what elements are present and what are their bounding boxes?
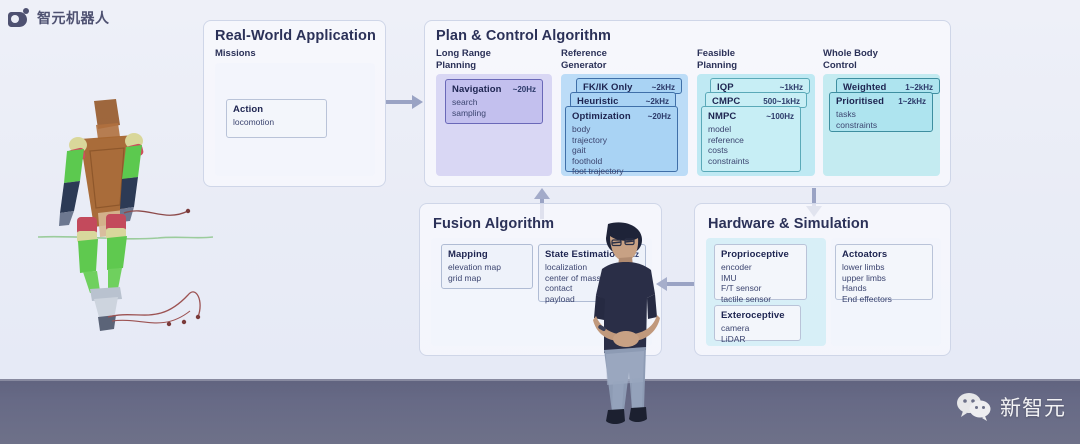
card-iqp-hz: ~1kHz (780, 83, 803, 92)
card-action[interactable]: Action locomotion (226, 99, 327, 138)
panel-hardware-simulation: Hardware & Simulation Proprioceptive enc… (694, 203, 951, 356)
card-action-body: locomotion (233, 117, 320, 128)
card-exteroceptive[interactable]: Exteroceptive camera LiDAR (714, 305, 801, 341)
card-actoators[interactable]: Actoators lower limbs upper limbs Hands … (835, 244, 933, 300)
watermark-text: 新智元 (1000, 392, 1066, 422)
card-proprioceptive-name: Proprioceptive (721, 249, 789, 260)
card-exteroceptive-name: Exteroceptive (721, 310, 785, 321)
subtitle-whole-body-control: Whole Body Control (823, 48, 878, 71)
presentation-stage-screenshot: 智元机器人 (0, 0, 1080, 444)
card-optimization-hz: ~20Hz (648, 112, 671, 121)
card-nmpc-name: NMPC (708, 111, 736, 122)
architecture-diagram: Real-World Application Missions Action l… (0, 0, 1080, 379)
card-actoators-body: lower limbs upper limbs Hands End effect… (842, 262, 926, 304)
panel-title-fusion: Fusion Algorithm (433, 216, 554, 232)
speaker-person (572, 222, 680, 444)
watermark: 新智元 (956, 392, 1066, 422)
subtitle-long-range-planning: Long Range Planning (436, 48, 491, 71)
card-navigation-hz: ~20Hz (513, 85, 536, 94)
subtitle-feasible-planning: Feasible Planning (697, 48, 737, 71)
card-prioritised-hz: 1~2kHz (898, 97, 926, 106)
panel-title-real-world: Real-World Application (215, 28, 376, 44)
arrow-right-icon (386, 94, 426, 110)
subtitle-missions: Missions (215, 48, 256, 60)
wechat-icon (956, 392, 992, 422)
card-nmpc[interactable]: NMPC ~100Hz model reference costs constr… (701, 106, 801, 172)
subtitle-reference-generator: Reference Generator (561, 48, 607, 71)
card-prioritised-body: tasks constraints (836, 109, 926, 130)
card-proprioceptive[interactable]: Proprioceptive encoder IMU F/T sensor ta… (714, 244, 807, 300)
panel-title-plan-control: Plan & Control Algorithm (436, 28, 611, 44)
card-cmpc-hz: 500~1kHz (763, 97, 800, 106)
panel-title-hardware: Hardware & Simulation (708, 216, 869, 232)
card-mapping-name: Mapping (448, 249, 488, 260)
card-actoators-name: Actoators (842, 249, 887, 260)
card-proprioceptive-body: encoder IMU F/T sensor tactile sensor (721, 262, 800, 304)
panel-plan-control-algorithm: Plan & Control Algorithm Long Range Plan… (424, 20, 951, 187)
card-navigation-body: search sampling (452, 97, 536, 118)
card-mapping-body: elevation map grid map (448, 262, 526, 283)
card-prioritised[interactable]: Prioritised 1~2kHz tasks constraints (829, 92, 933, 132)
card-mapping[interactable]: Mapping elevation map grid map (441, 244, 533, 289)
card-heuristic-hz: ~2kHz (646, 97, 669, 106)
card-exteroceptive-body: camera LiDAR (721, 323, 794, 344)
card-optimization[interactable]: Optimization ~20Hz body trajectory gait … (565, 106, 678, 172)
card-navigation-name: Navigation (452, 84, 502, 95)
card-navigation[interactable]: Navigation ~20Hz search sampling (445, 79, 543, 124)
card-fkik-only-hz: ~2kHz (652, 83, 675, 92)
card-nmpc-hz: ~100Hz (766, 112, 794, 121)
stage-floor (0, 379, 1080, 444)
card-nmpc-body: model reference costs constraints (708, 124, 794, 166)
card-action-name: Action (233, 104, 263, 115)
card-prioritised-name: Prioritised (836, 96, 884, 107)
card-weighted-hz: 1~2kHz (905, 83, 933, 92)
card-optimization-body: body trajectory gait foothold foot traje… (572, 124, 671, 177)
card-optimization-name: Optimization (572, 111, 631, 122)
panel-real-world-application: Real-World Application Missions Action l… (203, 20, 386, 187)
